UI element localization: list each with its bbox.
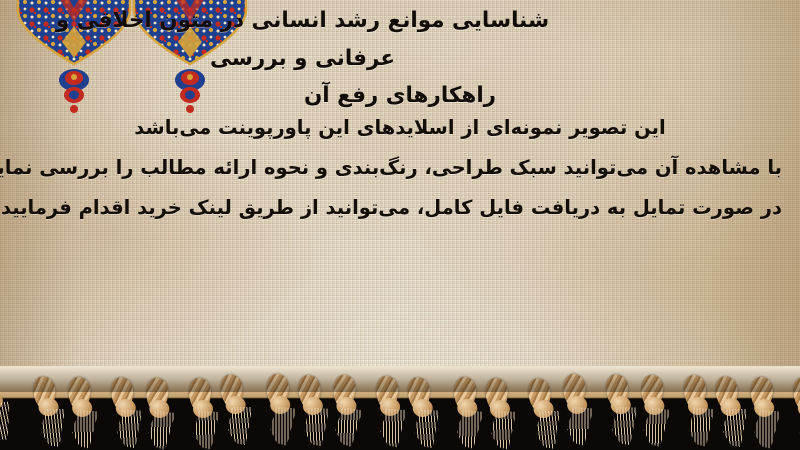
tassel bbox=[322, 374, 371, 450]
tassel-threads bbox=[640, 406, 671, 447]
slide-body-line-3: در صورت تمایل به دریافت فایل کامل، می‌تو… bbox=[18, 188, 782, 228]
tassel bbox=[555, 373, 601, 448]
tassel-threads bbox=[488, 410, 516, 449]
tassel-threads bbox=[564, 405, 593, 445]
tassel-threads bbox=[0, 401, 13, 441]
tassel bbox=[0, 367, 23, 447]
tassel bbox=[136, 377, 184, 450]
slide-body-line-1: این تصویر نمونه‌ای از اسلایدهای این پاور… bbox=[18, 108, 782, 148]
tassel bbox=[631, 374, 679, 450]
tassel-threads bbox=[69, 408, 98, 448]
tassel-threads bbox=[331, 407, 362, 448]
tassel-threads bbox=[797, 410, 800, 449]
tassel bbox=[742, 376, 789, 450]
tassel-threads bbox=[751, 408, 781, 449]
tassel bbox=[213, 372, 261, 449]
tassel bbox=[786, 377, 800, 450]
tassel-row bbox=[0, 376, 800, 450]
tassel bbox=[400, 376, 448, 450]
carpet-tassel-fringe bbox=[0, 366, 800, 450]
slide-title: شناسایی موانع رشد انسانی در متون اخلاقی … bbox=[0, 2, 800, 115]
slide-title-line-1: شناسایی موانع رشد انسانی در متون اخلاقی … bbox=[14, 2, 786, 77]
slide-body-line-2: با مشاهده آن می‌توانید سبک طراحی، رنگ‌بن… bbox=[18, 148, 782, 188]
tassel bbox=[60, 376, 106, 450]
slide-body: این تصویر نمونه‌ای از اسلایدهای این پاور… bbox=[0, 108, 800, 228]
tassel bbox=[479, 378, 524, 450]
slide-canvas: شناسایی موانع رشد انسانی در متون اخلاقی … bbox=[0, 0, 800, 450]
tassel-threads bbox=[145, 409, 176, 450]
